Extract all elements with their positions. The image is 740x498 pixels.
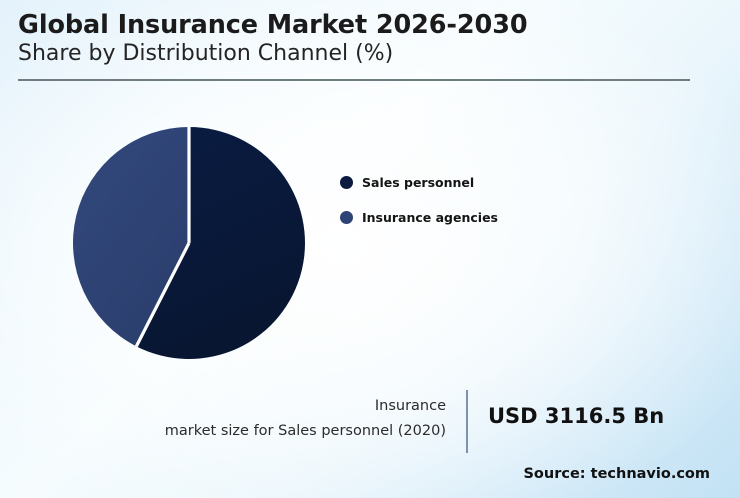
chart-legend: Sales personnel Insurance agencies [340,172,498,242]
stat-description-line-2: market size for Sales personnel (2020) [116,419,446,444]
page-title: Global Insurance Market 2026-2030 [18,10,718,40]
legend-item-label: Sales personnel [362,175,474,190]
pie-chart-svg [70,124,308,362]
legend-item-label: Insurance agencies [362,210,498,225]
legend-item-insurance-agencies[interactable]: Insurance agencies [340,207,498,228]
stat-description: Insurance market size for Sales personne… [116,394,446,444]
header-divider [18,79,690,81]
stat-divider [466,390,468,453]
page-subtitle: Share by Distribution Channel (%) [18,41,718,67]
stat-description-line-1: Insurance [116,394,446,419]
legend-dot-icon [340,176,353,189]
legend-item-sales-personnel[interactable]: Sales personnel [340,172,498,193]
legend-dot-icon [340,211,353,224]
stat-value: USD 3116.5 Bn [488,404,664,428]
chart-header: Global Insurance Market 2026-2030 Share … [18,10,718,67]
source-attribution: Source: technavio.com [523,466,710,482]
stat-callout: Insurance market size for Sales personne… [120,388,700,454]
infographic-canvas: Global Insurance Market 2026-2030 Share … [0,0,740,498]
pie-chart [70,124,308,362]
